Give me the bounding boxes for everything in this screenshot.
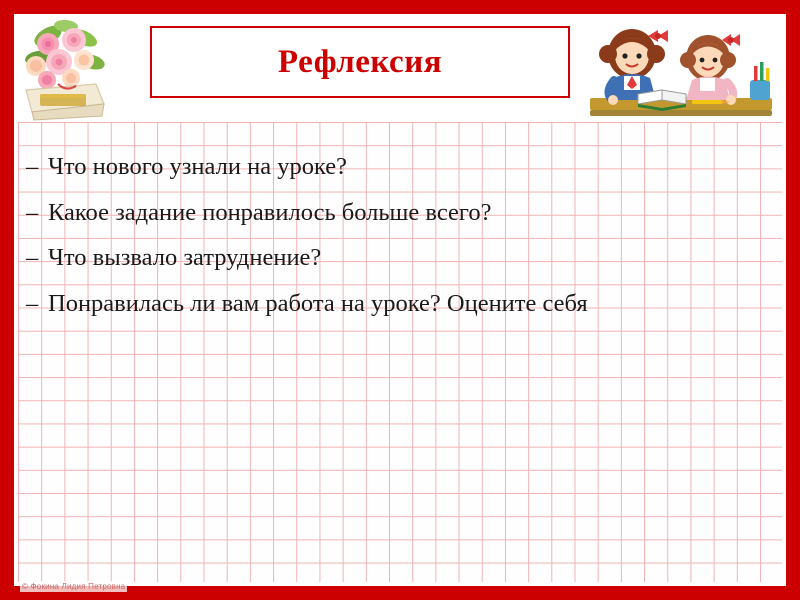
bullet-dash-marker: – [26,152,48,183]
flowers-image [18,18,142,122]
list-item-text: Что нового узнали на уроке? [48,152,766,183]
title-box: Рефлексия [150,26,570,98]
slide-canvas: Рефлексия – Что нового узнали на уроке? … [0,0,800,600]
list-item-text: Понравилась ли вам работа на уроке? Оцен… [48,289,766,320]
bullet-dash-marker: – [26,198,48,229]
page-title: Рефлексия [278,44,442,81]
bullet-dash-marker: – [26,289,48,320]
list-item: – Что вызвало затруднение? [26,243,766,274]
bullet-dash-marker: – [26,243,48,274]
reflection-question-list: – Что нового узнали на уроке? – Какое за… [26,152,766,335]
list-item: – Что нового узнали на уроке? [26,152,766,183]
list-item: – Какое задание понравилось больше всего… [26,198,766,229]
list-item-text: Что вызвало затруднение? [48,243,766,274]
list-item: – Понравилась ли вам работа на уроке? Оц… [26,289,766,320]
schoolgirls-image [580,20,782,122]
list-item-text: Какое задание понравилось больше всего? [48,198,766,229]
copyright-notice: © Фокина Лидия Петровна [20,581,127,592]
